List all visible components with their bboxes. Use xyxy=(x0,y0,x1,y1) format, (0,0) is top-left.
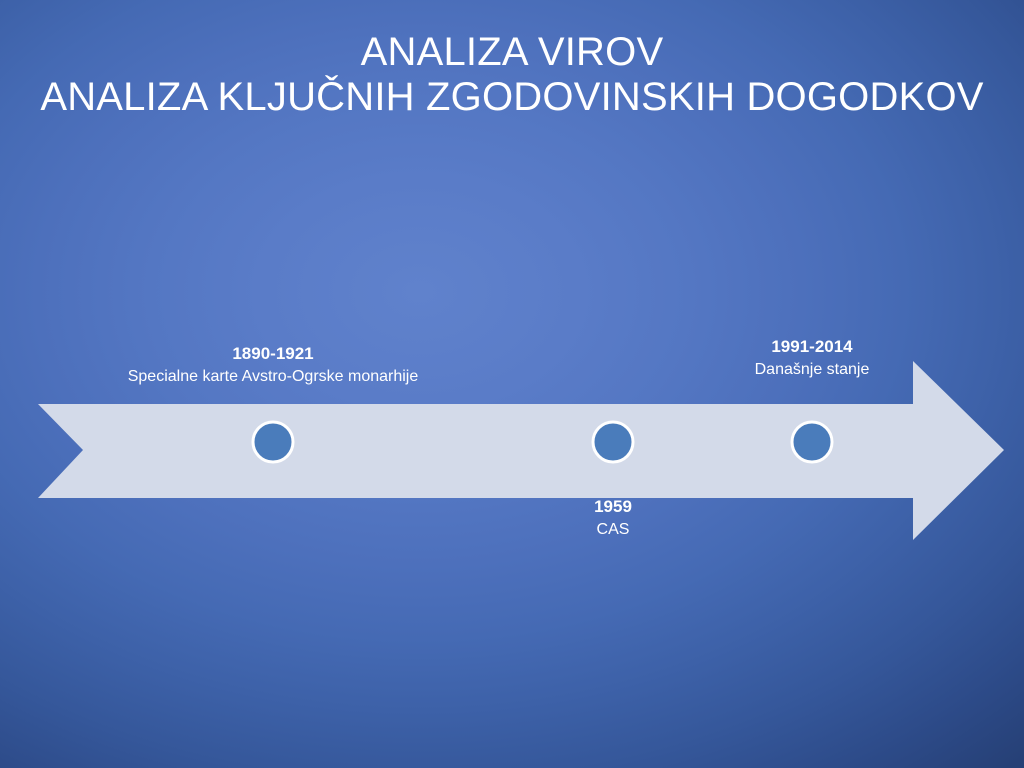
event-description-3: Današnje stanje xyxy=(712,359,912,381)
event-date-1: 1890-1921 xyxy=(73,343,473,366)
timeline-event-label-3: 1991-2014 Današnje stanje xyxy=(712,336,912,381)
timeline-marker-3[interactable] xyxy=(792,422,832,462)
timeline-marker-2[interactable] xyxy=(593,422,633,462)
event-date-3: 1991-2014 xyxy=(712,336,912,359)
event-date-2: 1959 xyxy=(513,496,713,519)
slide-canvas: ANALIZA VIROV ANALIZA KLJUČNIH ZGODOVINS… xyxy=(0,0,1024,768)
timeline-marker-1[interactable] xyxy=(253,422,293,462)
timeline-event-label-1: 1890-1921 Specialne karte Avstro-Ogrske … xyxy=(73,343,473,388)
event-description-2: CAS xyxy=(513,519,713,541)
event-description-1: Specialne karte Avstro-Ogrske monarhije xyxy=(73,366,473,388)
timeline-event-label-2: 1959 CAS xyxy=(513,496,713,541)
